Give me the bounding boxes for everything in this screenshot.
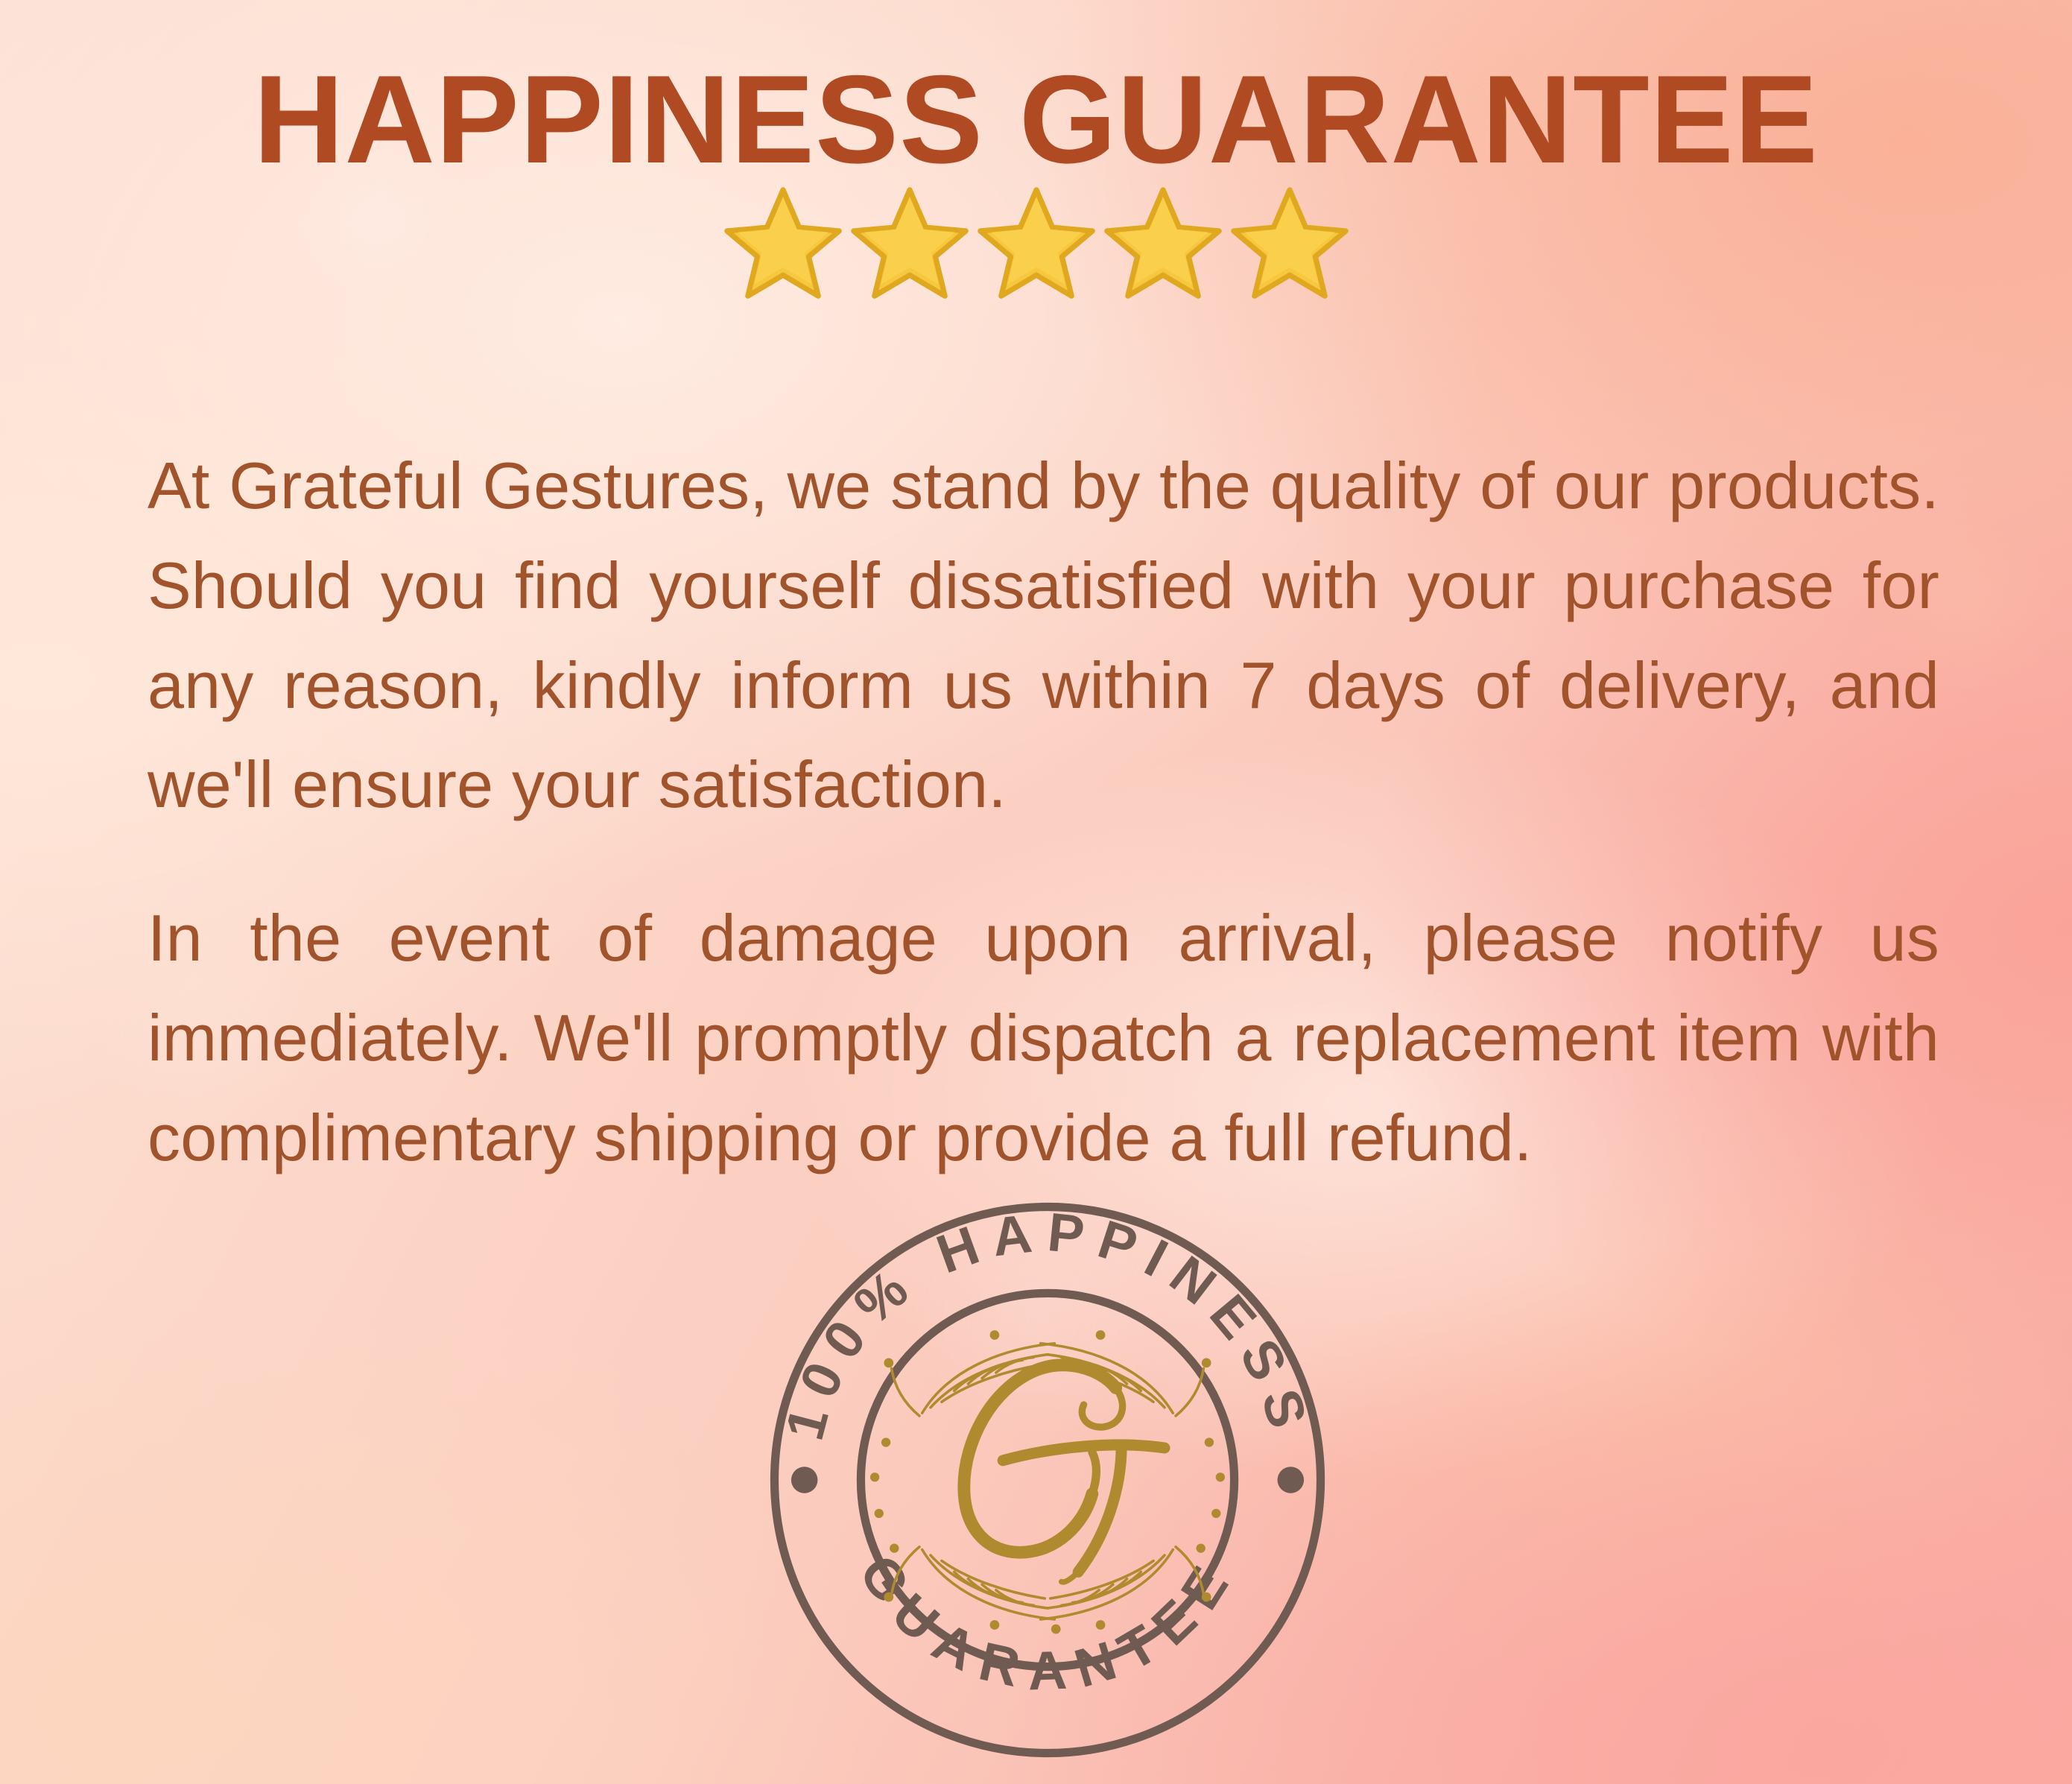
guarantee-seal: 100% HAPPINESS GUARANTEE	[769, 1201, 1326, 1759]
star-icon-1	[723, 186, 843, 300]
seal-dot-left	[791, 1467, 818, 1493]
happiness-guarantee-poster: HAPPINESS GUARANTEE	[0, 0, 2072, 1784]
star-icon-3	[977, 186, 1096, 300]
seal-bottom-arc-text: GUARANTEE	[848, 1545, 1248, 1702]
star-rating	[0, 186, 2072, 300]
star-icon-4	[1103, 186, 1223, 300]
poster-content: HAPPINESS GUARANTEE	[0, 0, 2072, 1784]
wreath-icon	[892, 1344, 1204, 1416]
seal-dot-right	[1278, 1467, 1305, 1493]
page-title: HAPPINESS GUARANTEE	[0, 57, 2072, 182]
wreath-berries	[884, 1330, 1211, 1633]
policy-text-block: At Grateful Gestures, we stand by the qu…	[148, 436, 1939, 1187]
monogram-g-icon	[964, 1365, 1165, 1582]
paragraph-quality-promise: At Grateful Gestures, we stand by the qu…	[148, 436, 1939, 835]
star-icon-5	[1230, 186, 1349, 300]
star-icon-2	[850, 186, 969, 300]
seal-top-arc-text: 100% HAPPINESS	[774, 1202, 1321, 1446]
paragraph-damage-policy: In the event of damage upon arrival, ple…	[148, 888, 1939, 1187]
